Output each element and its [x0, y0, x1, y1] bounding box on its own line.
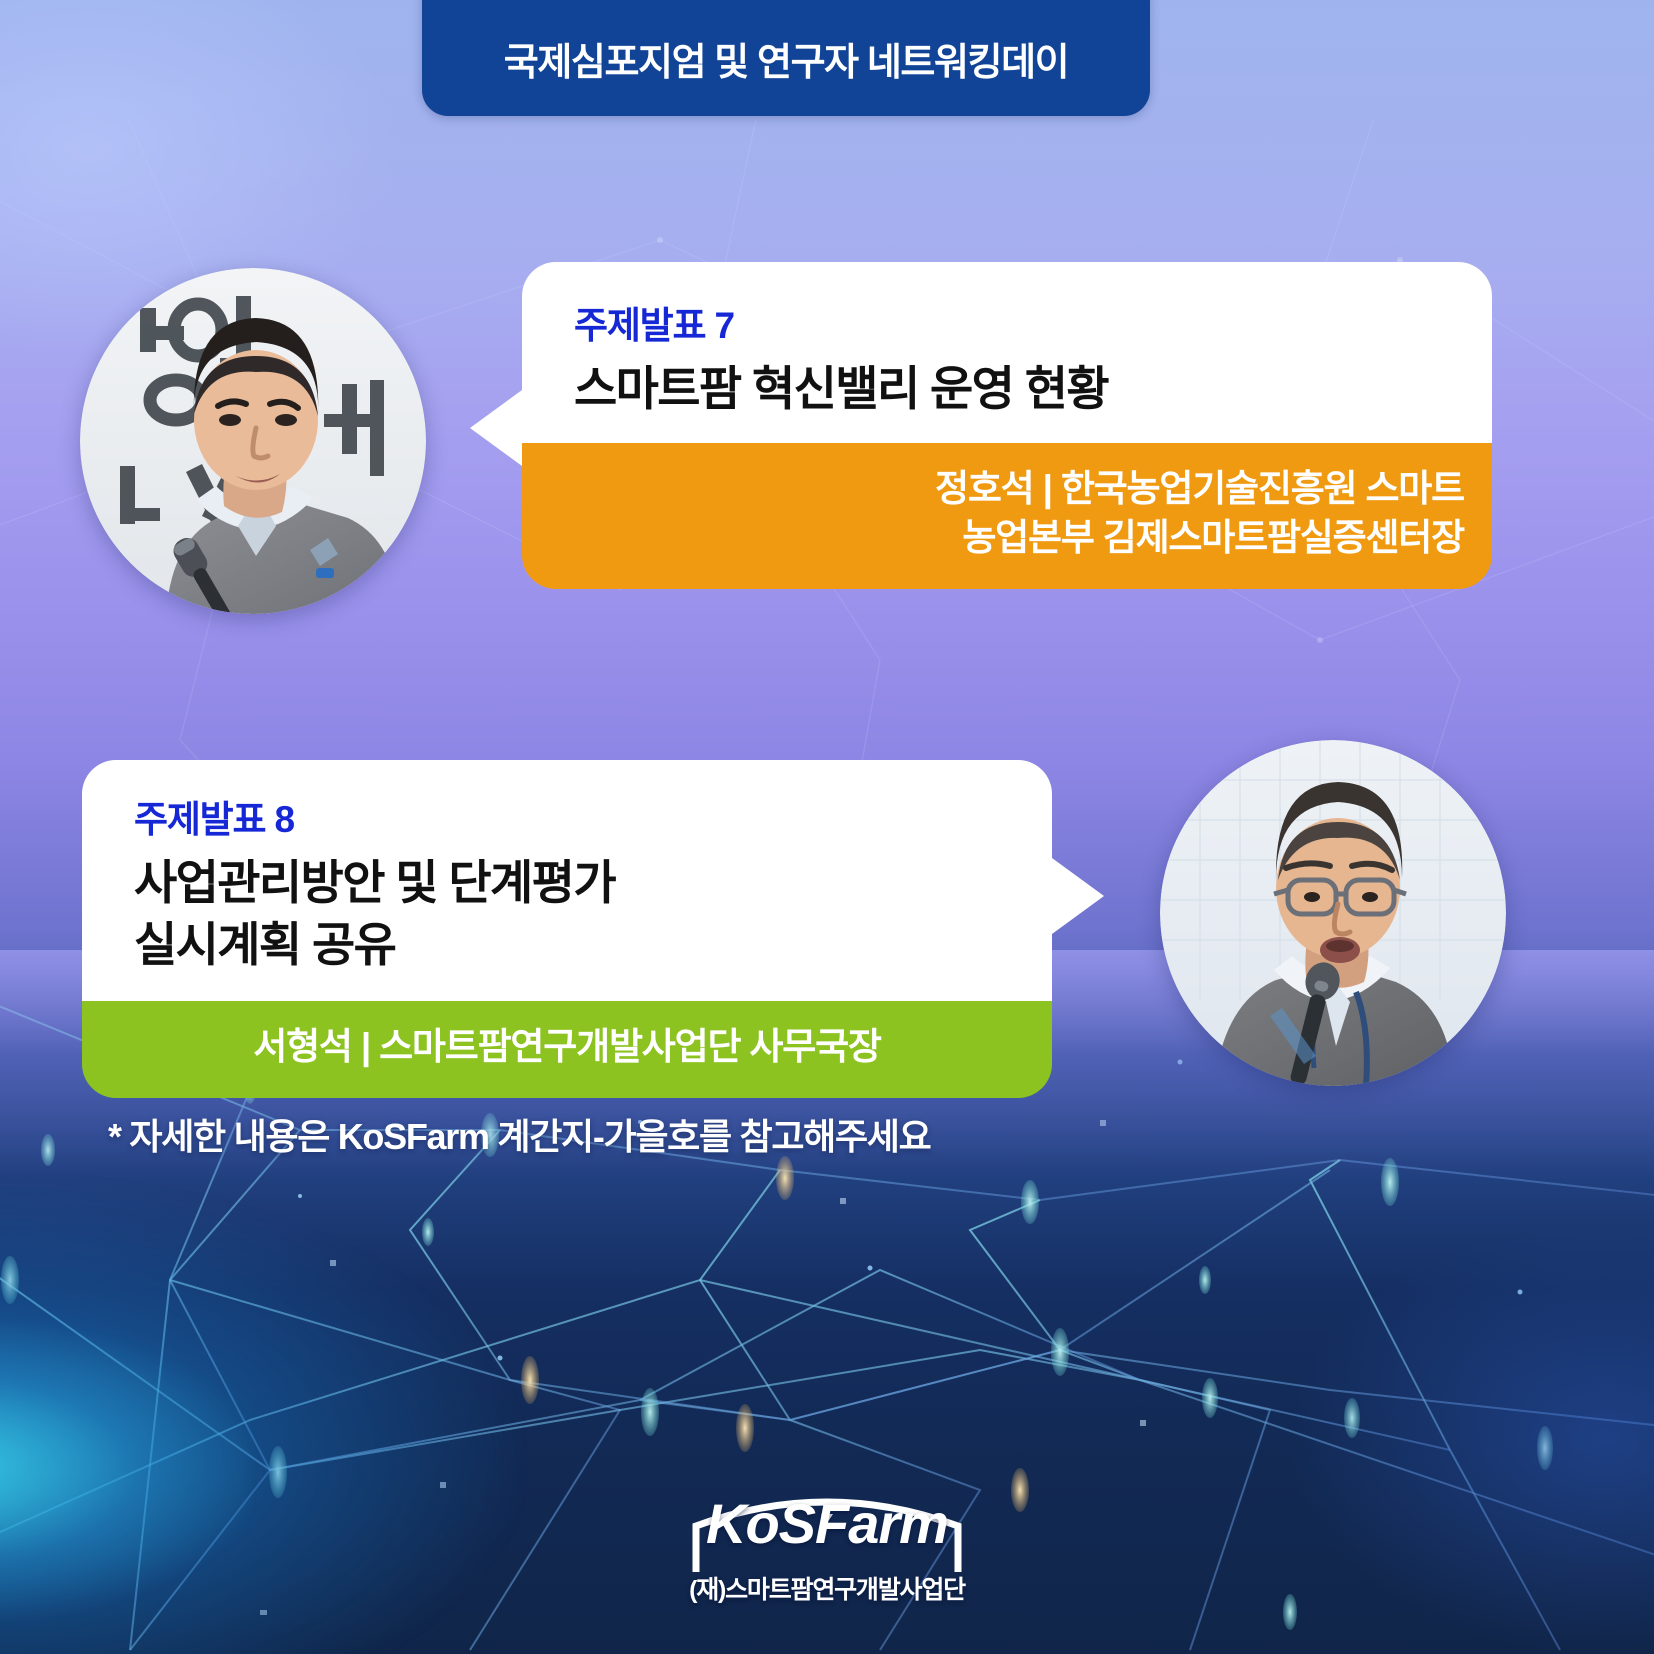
presentation-card-2: 주제발표 8 사업관리방안 및 단계평가 실시계획 공유 서형석 | 스마트팜연…: [82, 760, 1052, 1098]
presentation-card-1: 주제발표 7 스마트팜 혁신밸리 운영 현황 정호석 | 한국농업기술진흥원 스…: [522, 262, 1492, 589]
card-1-body: 주제발표 7 스마트팜 혁신밸리 운영 현황: [522, 262, 1492, 443]
card-1-speaker-line-1: 정호석 | 한국농업기술진흥원 스마트: [550, 465, 1464, 514]
speaker-photo-1: [80, 268, 426, 614]
card-2-speaker-line-1: 서형석 | 스마트팜연구개발사업단 사무국장: [110, 1023, 1024, 1072]
logo-wordmark: KoSFarm: [688, 1496, 966, 1552]
card-1-label: 주제발표 7: [522, 306, 1492, 347]
speaker-photo-2: [1160, 740, 1506, 1086]
card-1-tail: [470, 390, 522, 466]
card-1-speaker-line-2: 농업본부 김제스마트팜실증센터장: [550, 514, 1464, 563]
card-1-title: 스마트팜 혁신밸리 운영 현황: [522, 359, 1492, 419]
header-banner: 국제심포지엄 및 연구자 네트워킹데이: [422, 0, 1150, 116]
card-2-tail: [1052, 858, 1104, 934]
kosfarm-logo: KoSFarm (재)스마트팜연구개발사업단: [0, 1490, 1654, 1606]
card-2-label: 주제발표 8: [82, 800, 1052, 841]
card-2-body: 주제발표 8 사업관리방안 및 단계평가 실시계획 공유: [82, 760, 1052, 1001]
footnote-text: * 자세한 내용은 KoSFarm 계간지-가을호를 참고해주세요: [108, 1108, 930, 1160]
logo-arch-icon: KoSFarm: [688, 1490, 966, 1576]
header-banner-title: 국제심포지엄 및 연구자 네트워킹데이: [504, 31, 1068, 116]
card-2-title-line-2: 실시계획 공유: [82, 915, 1052, 975]
card-2-title-line-1: 사업관리방안 및 단계평가: [82, 853, 1052, 913]
card-2-speaker-band: 서형석 | 스마트팜연구개발사업단 사무국장: [82, 1001, 1052, 1098]
poster-canvas: 국제심포지엄 및 연구자 네트워킹데이: [0, 0, 1654, 1654]
card-1-speaker-band: 정호석 | 한국농업기술진흥원 스마트 농업본부 김제스마트팜실증센터장: [522, 443, 1492, 589]
